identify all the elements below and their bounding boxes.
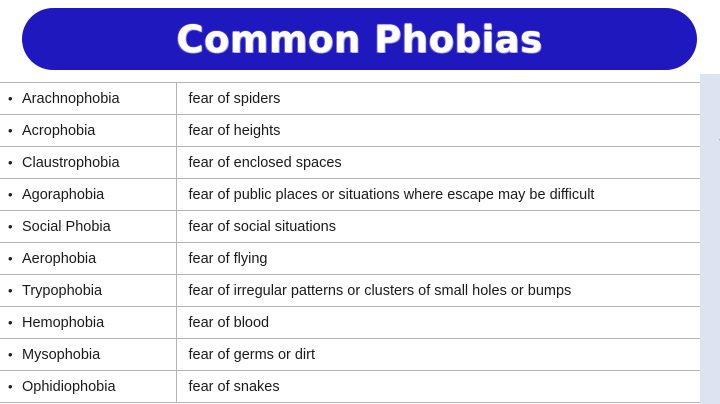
term-cell: •Ophidiophobia [0, 371, 176, 403]
term-cell: •Arachnophobia [0, 83, 176, 115]
term-row-inner: •Hemophobia [8, 315, 176, 331]
term-row-inner: •Claustrophobia [8, 155, 176, 171]
term-cell: •Social Phobia [0, 211, 176, 243]
phobia-definition-label: fear of public places or situations wher… [189, 187, 595, 203]
phobia-definition-label: fear of irregular patterns or clusters o… [189, 283, 572, 299]
term-cell: •Mysophobia [0, 339, 176, 371]
definition-cell: fear of blood [176, 307, 700, 339]
table-row: •Mysophobiafear of germs or dirt [0, 339, 700, 371]
table-row: •Acrophobiafear of heights [0, 115, 700, 147]
bullet-icon: • [8, 156, 22, 169]
definition-cell: fear of heights [176, 115, 700, 147]
bullet-icon: • [8, 124, 22, 137]
bullet-icon: • [8, 220, 22, 233]
definition-cell: fear of public places or situations wher… [176, 179, 700, 211]
phobias-infographic: Common Phobias •Arachnophobiafear of spi… [0, 0, 720, 404]
term-cell: •Agoraphobia [0, 179, 176, 211]
table-row: •Social Phobiafear of social situations [0, 211, 700, 243]
phobia-table: •Arachnophobiafear of spiders•Acrophobia… [0, 82, 700, 403]
table-row: •Trypophobiafear of irregular patterns o… [0, 275, 700, 307]
definition-cell: fear of spiders [176, 83, 700, 115]
bullet-icon: • [8, 252, 22, 265]
table-row: •Hemophobiafear of blood [0, 307, 700, 339]
phobia-term-label: Claustrophobia [22, 155, 120, 171]
bullet-icon: • [8, 380, 22, 393]
phobia-term-label: Ophidiophobia [22, 379, 116, 395]
phobia-definition-label: fear of social situations [189, 219, 337, 235]
title-banner: Common Phobias [22, 8, 697, 70]
phobia-term-label: Acrophobia [22, 123, 95, 139]
phobia-definition-label: fear of snakes [189, 379, 280, 395]
phobia-table-body: •Arachnophobiafear of spiders•Acrophobia… [0, 83, 700, 403]
definition-cell: fear of germs or dirt [176, 339, 700, 371]
bullet-icon: • [8, 284, 22, 297]
phobia-definition-label: fear of spiders [189, 91, 281, 107]
phobia-term-label: Arachnophobia [22, 91, 120, 107]
table-row: •Agoraphobiafear of public places or sit… [0, 179, 700, 211]
definition-cell: fear of enclosed spaces [176, 147, 700, 179]
bullet-icon: • [8, 188, 22, 201]
table-row: •Aerophobiafear of flying [0, 243, 700, 275]
phobia-definition-label: fear of germs or dirt [189, 347, 316, 363]
term-cell: •Claustrophobia [0, 147, 176, 179]
term-row-inner: •Trypophobia [8, 283, 176, 299]
phobia-term-label: Hemophobia [22, 315, 104, 331]
term-row-inner: •Arachnophobia [8, 91, 176, 107]
term-cell: •Acrophobia [0, 115, 176, 147]
phobia-term-label: Aerophobia [22, 251, 96, 267]
term-row-inner: •Aerophobia [8, 251, 176, 267]
watermark-strip [700, 74, 720, 404]
term-cell: •Hemophobia [0, 307, 176, 339]
table-row: •Ophidiophobiafear of snakes [0, 371, 700, 403]
definition-cell: fear of social situations [176, 211, 700, 243]
phobia-term-label: Social Phobia [22, 219, 111, 235]
phobia-term-label: Trypophobia [22, 283, 102, 299]
bullet-icon: • [8, 92, 22, 105]
phobia-definition-label: fear of heights [189, 123, 281, 139]
bullet-icon: • [8, 348, 22, 361]
phobia-definition-label: fear of flying [189, 251, 268, 267]
term-row-inner: •Mysophobia [8, 347, 176, 363]
page-title: Common Phobias [176, 21, 542, 58]
table-row: •Claustrophobiafear of enclosed spaces [0, 147, 700, 179]
definition-cell: fear of flying [176, 243, 700, 275]
term-row-inner: •Social Phobia [8, 219, 176, 235]
definition-cell: fear of snakes [176, 371, 700, 403]
definition-cell: fear of irregular patterns or clusters o… [176, 275, 700, 307]
phobia-term-label: Mysophobia [22, 347, 100, 363]
table-row: •Arachnophobiafear of spiders [0, 83, 700, 115]
term-cell: •Aerophobia [0, 243, 176, 275]
term-cell: •Trypophobia [0, 275, 176, 307]
phobia-term-label: Agoraphobia [22, 187, 104, 203]
term-row-inner: •Ophidiophobia [8, 379, 176, 395]
bullet-icon: • [8, 316, 22, 329]
phobia-definition-label: fear of blood [189, 315, 270, 331]
term-row-inner: •Agoraphobia [8, 187, 176, 203]
phobia-definition-label: fear of enclosed spaces [189, 155, 342, 171]
term-row-inner: •Acrophobia [8, 123, 176, 139]
